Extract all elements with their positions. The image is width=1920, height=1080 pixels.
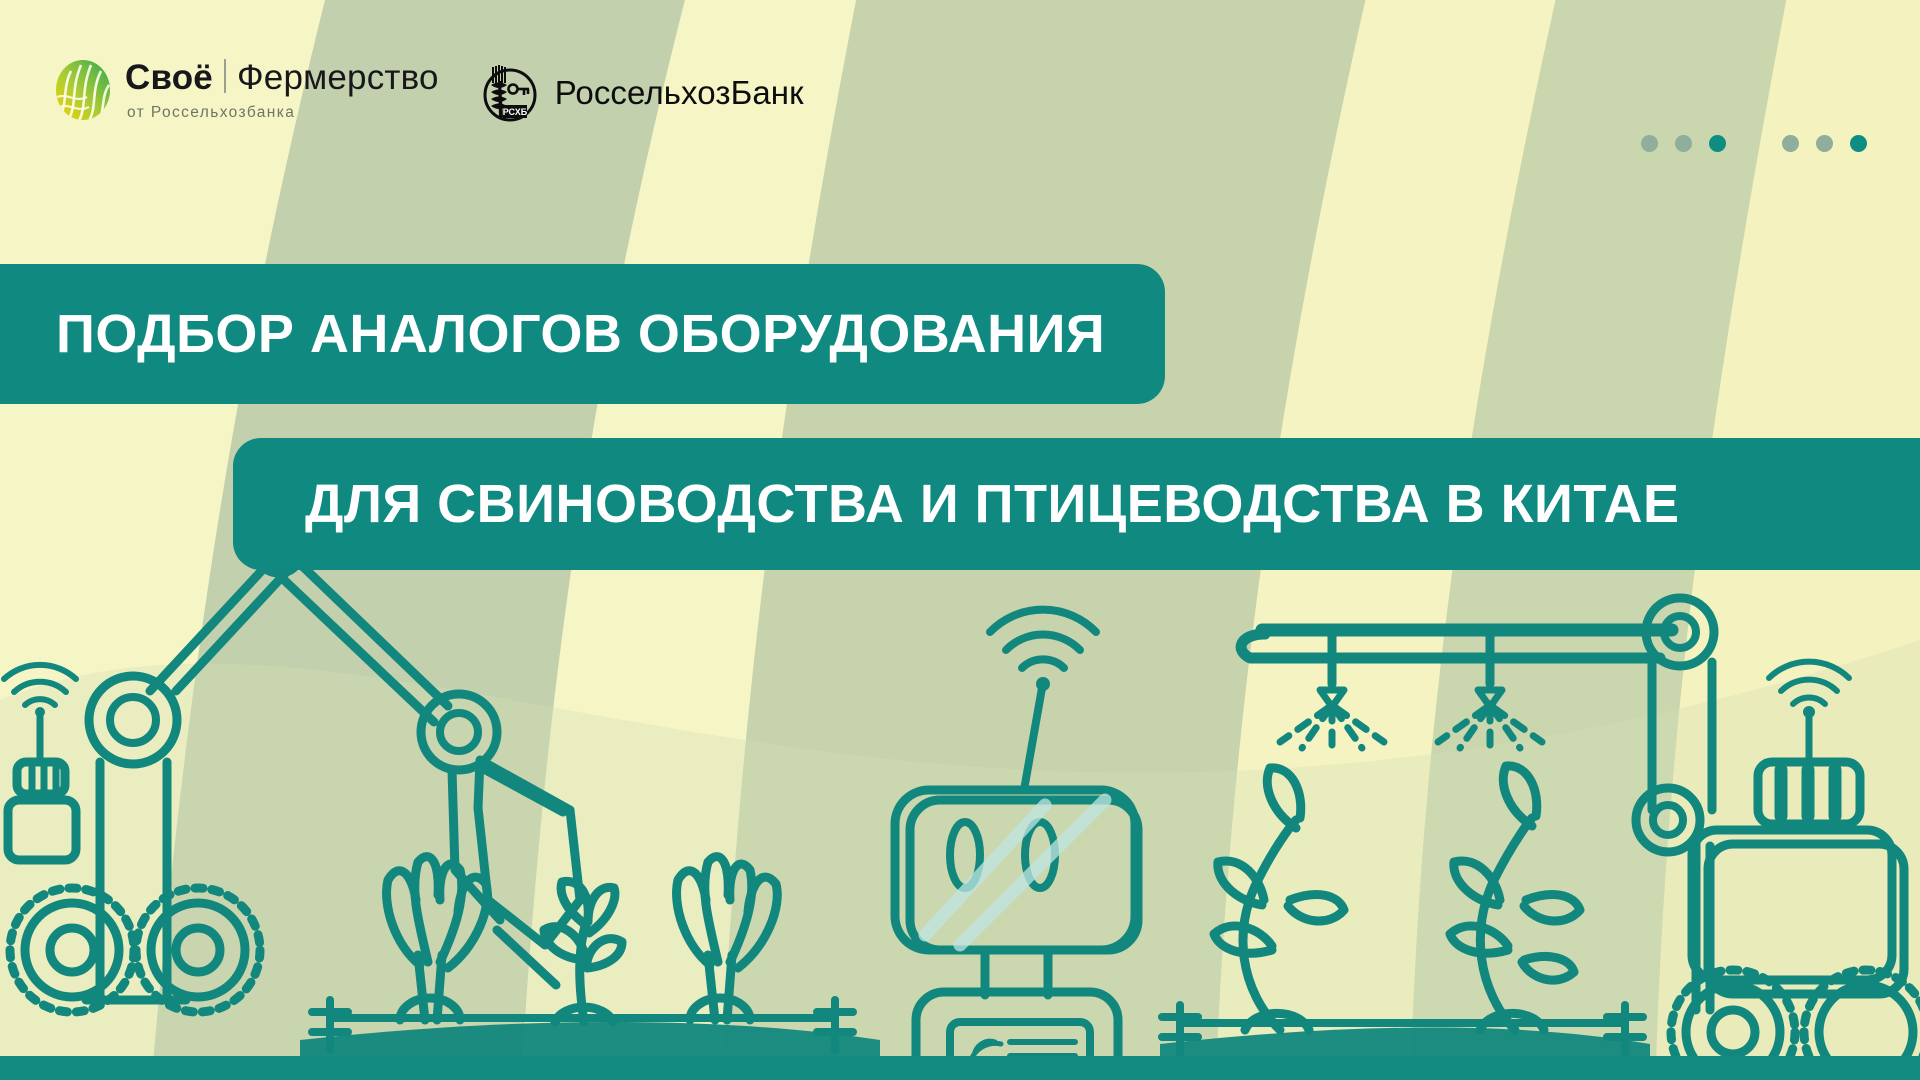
- seedling-sprout-a: [544, 881, 622, 1022]
- svoe-logo-subtitle: от Россельхозбанка: [127, 104, 439, 122]
- decorative-dots: [1641, 135, 1867, 152]
- dot-6: [1850, 135, 1867, 152]
- irrigation-sprinkler-boom: [1241, 630, 1672, 704]
- antenna-sensor-box-left: [4, 665, 76, 860]
- title-line-1: ПОДБОР АНАЛОГОВ ОБОРУДОВАНИЯ: [56, 303, 1105, 365]
- sprinkler-spray: [1280, 708, 1542, 752]
- logo-row: Своё Фермерство от Россельхозбанка: [55, 55, 804, 125]
- antenna-tank-vehicle: [1636, 598, 1920, 1080]
- title-banner-line1: ПОДБОР АНАЛОГОВ ОБОРУДОВАНИЯ: [0, 264, 1165, 404]
- dot-3: [1709, 135, 1726, 152]
- vine-plant-b: [1450, 766, 1580, 1030]
- vine-plant-a: [1214, 768, 1344, 1030]
- dot-2: [1675, 135, 1692, 152]
- svg-text:РСХБ: РСХБ: [503, 107, 528, 117]
- dot-4: [1782, 135, 1799, 152]
- ground-strip: [0, 1056, 1920, 1080]
- rosselhozbank-logo[interactable]: РСХБ РоссельхозБанк: [477, 61, 804, 125]
- logo-divider: [224, 59, 226, 93]
- fermerstvo-word: Фермерство: [237, 60, 439, 97]
- title-banner-line2: ДЛЯ СВИНОВОДСТВА И ПТИЦЕВОДСТВА В КИТАЕ: [233, 438, 1920, 570]
- dot-5: [1816, 135, 1833, 152]
- slide-root: Своё Фермерство от Россельхозбанка: [0, 0, 1920, 1080]
- title-line-2: ДЛЯ СВИНОВОДСТВА И ПТИЦЕВОДСТВА В КИТАЕ: [305, 473, 1679, 535]
- robotic-arm-vehicle: [10, 527, 580, 1012]
- leafy-plant-a: [387, 857, 488, 1020]
- leafy-plant-b: [677, 857, 778, 1020]
- dot-1: [1641, 135, 1658, 152]
- svoe-gradient-leaf-mark: [55, 59, 111, 121]
- svoe-fermerstvo-logo[interactable]: Своё Фермерство от Россельхозбанка: [55, 55, 439, 122]
- rshb-logo-text: РоссельхозБанк: [555, 74, 804, 112]
- svoe-word: Своё: [125, 60, 213, 97]
- rshb-wheat-key-emblem: РСХБ: [477, 61, 541, 125]
